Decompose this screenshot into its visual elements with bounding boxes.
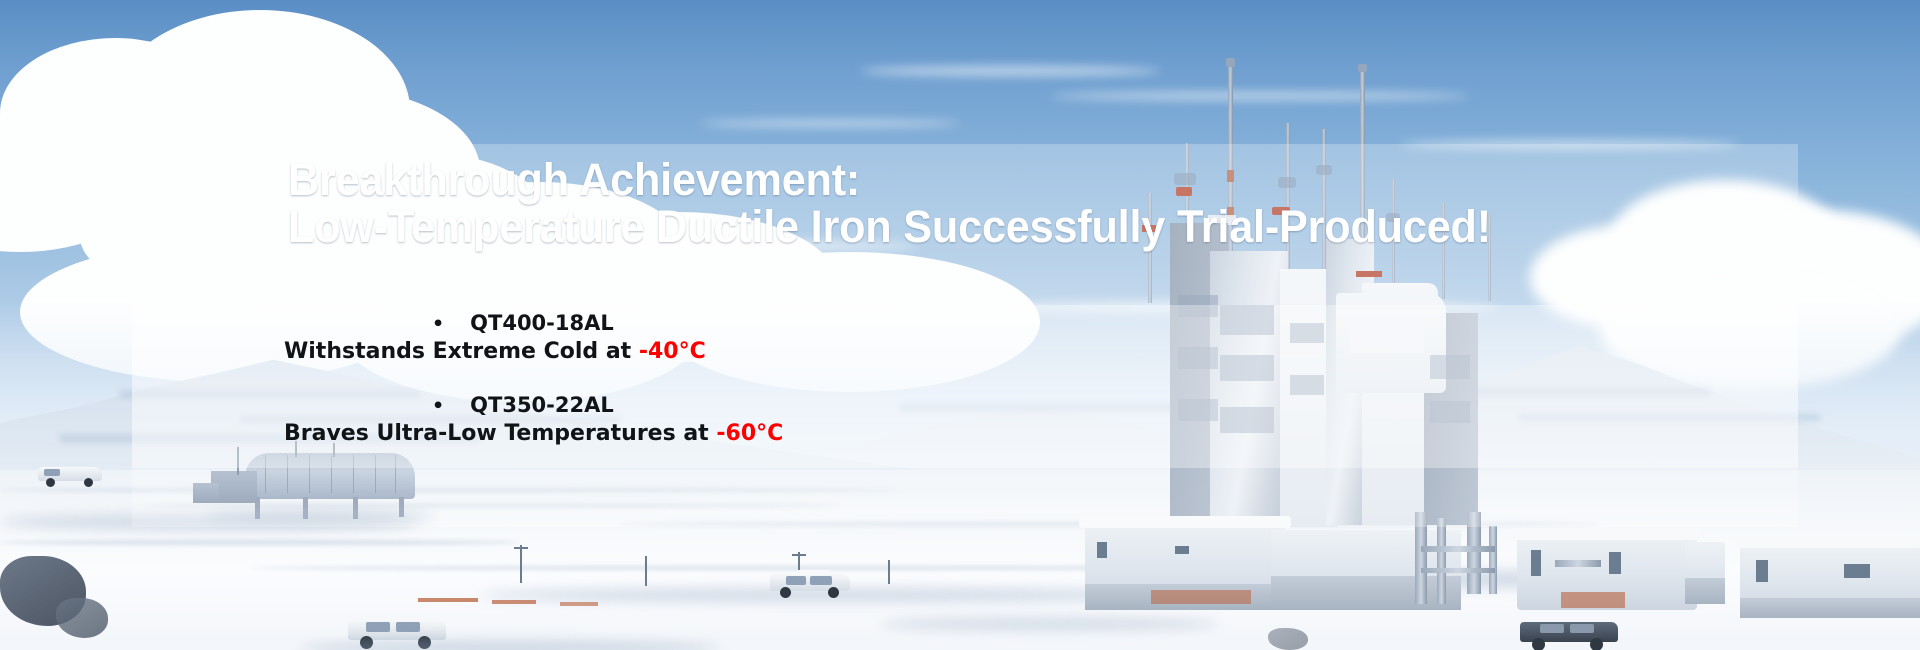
utility-pole-arm xyxy=(514,547,528,549)
description-text: Braves Ultra-Low Temperatures at xyxy=(284,421,716,446)
parked-suv-white xyxy=(770,568,852,598)
snow-track xyxy=(300,640,720,650)
utility-pole xyxy=(520,545,522,583)
list-item: • QT350-22AL Braves Ultra-Low Temperatur… xyxy=(132,392,1798,448)
foreground-trailer xyxy=(1740,536,1920,650)
list-item: • QT400-18AL Withstands Extreme Cold at … xyxy=(132,310,1798,366)
temperature-value: -40°C xyxy=(639,339,706,364)
temperature-value: -60°C xyxy=(716,421,783,446)
title-line-1: Breakthrough Achievement: xyxy=(288,154,860,205)
parked-truck-distant xyxy=(38,463,106,487)
snow-marker xyxy=(418,598,478,602)
bullet-heading: • QT400-18AL xyxy=(132,310,1798,337)
overlay-band-footer xyxy=(132,468,1798,527)
text-overlay-panel: Breakthrough Achievement:Low-Temperature… xyxy=(132,144,1798,527)
foreground-buildings xyxy=(1085,512,1725,650)
utility-pole xyxy=(888,560,890,584)
bullet-list: • QT400-18AL Withstands Extreme Cold at … xyxy=(132,310,1798,474)
bullet-marker-icon: • xyxy=(432,311,444,337)
grade-code: QT400-18AL xyxy=(470,310,614,336)
snow-track xyxy=(880,618,1220,630)
snow-marker xyxy=(492,600,536,604)
description-text: Withstands Extreme Cold at xyxy=(284,339,639,364)
banner-stage: Breakthrough Achievement:Low-Temperature… xyxy=(0,0,1920,650)
snow-marker xyxy=(560,602,598,606)
utility-pole xyxy=(645,556,647,586)
bullet-heading: • QT350-22AL xyxy=(132,392,1798,419)
utility-pole-arm xyxy=(792,554,806,556)
bullet-description: Withstands Extreme Cold at -40°C xyxy=(132,338,1798,366)
bullet-marker-icon: • xyxy=(432,393,444,419)
cloud-wisp xyxy=(700,120,960,127)
title-line-2: Low-Temperature Ductile Iron Successfull… xyxy=(288,201,1491,252)
page-title: Breakthrough Achievement:Low-Temperature… xyxy=(288,156,1709,250)
grade-code: QT350-22AL xyxy=(470,392,614,418)
bullet-description: Braves Ultra-Low Temperatures at -60°C xyxy=(132,420,1798,448)
